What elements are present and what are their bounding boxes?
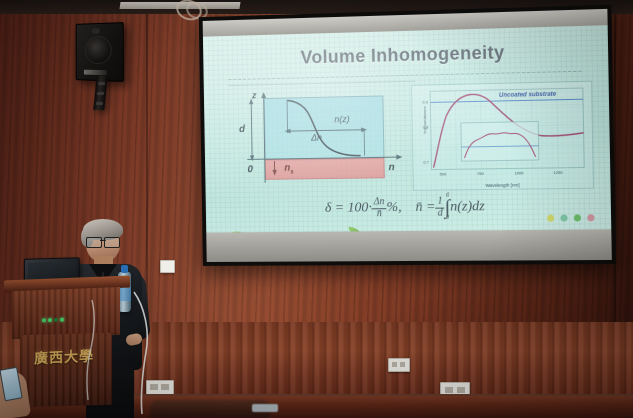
substrate-index-label: ns <box>284 163 293 176</box>
led-indicator <box>60 318 64 322</box>
university-logo-text: 廣西大學 <box>24 342 104 372</box>
speaker-cone <box>85 36 112 64</box>
transmittance-spectrum-chart: Uncoated substrate Transmittance Wavelen… <box>411 81 594 191</box>
accent-dot <box>587 214 594 221</box>
uncoated-substrate-annotation: Uncoated substrate <box>499 92 556 99</box>
delta-n-label: Δn <box>311 132 322 142</box>
presentation-slide: Volume Inhomogeneity <box>203 25 611 232</box>
slide-title: Volume Inhomogeneity <box>203 39 608 70</box>
accent-dot <box>547 215 554 222</box>
wall-switch-plate <box>160 260 175 273</box>
formula-equals-2: = <box>426 200 436 215</box>
y-tick-0: 0.9 <box>422 99 428 104</box>
formula-mean-n: n̄ <box>415 200 422 215</box>
x-tick-2: 1000 <box>514 170 523 175</box>
lectern-indicator-lights <box>42 318 64 323</box>
x-tick-0: 500 <box>440 171 447 176</box>
integral-lower-limit: 0 <box>446 216 449 221</box>
title-divider-secondary <box>229 81 415 86</box>
axis-label-d: d <box>239 124 245 135</box>
y-tick-2: 0.7 <box>423 160 429 165</box>
wall-speaker <box>76 22 124 82</box>
tweeter <box>91 28 100 34</box>
formula-fraction-1: Δnn̄ <box>372 197 387 219</box>
glasses-icon <box>86 237 120 246</box>
lectern-front-panel <box>12 287 120 339</box>
axis-label-z: z <box>252 90 257 100</box>
formula-integrand: n(z)dz <box>450 199 485 214</box>
bottle-cap <box>121 265 128 273</box>
axis-label-origin: 0 <box>247 164 253 175</box>
x-tick-1: 750 <box>477 171 484 176</box>
slide-accent-dots <box>547 214 595 222</box>
leaf-decoration-icon <box>230 228 245 232</box>
screen-bottom-bar <box>206 229 612 262</box>
led-indicator <box>48 318 52 322</box>
lecture-hall-photo: Volume Inhomogeneity <box>0 0 633 418</box>
fraction-denominator: n̄ <box>372 209 387 220</box>
wall-outlet <box>388 358 410 372</box>
refractive-index-depth-diagram: z d 0 n n(z) Δn ns <box>227 89 405 186</box>
led-indicator <box>42 318 46 322</box>
projection-screen: Volume Inhomogeneity <box>199 5 616 266</box>
axis-label-n: n <box>388 162 394 173</box>
fraction-numerator: Δn <box>372 197 387 209</box>
x-tick-3: 1250 <box>553 170 562 175</box>
foreground-object <box>252 404 278 412</box>
formula-percent: %, <box>386 200 401 215</box>
y-tick-1: 0.8 <box>423 125 429 130</box>
title-divider <box>229 71 582 80</box>
led-indicator <box>54 318 58 322</box>
accent-dot <box>560 214 567 221</box>
formula-equals: = <box>335 201 345 216</box>
formula-delta: δ <box>325 201 332 216</box>
integral-upper-limit: d <box>446 193 449 198</box>
integral-symbol: d∫0 <box>445 199 451 215</box>
curve-label-nz: n(z) <box>334 114 349 124</box>
speaker-brand-plate <box>84 70 107 76</box>
accent-dot <box>574 214 581 221</box>
formula-hundred: 100 <box>347 201 368 216</box>
